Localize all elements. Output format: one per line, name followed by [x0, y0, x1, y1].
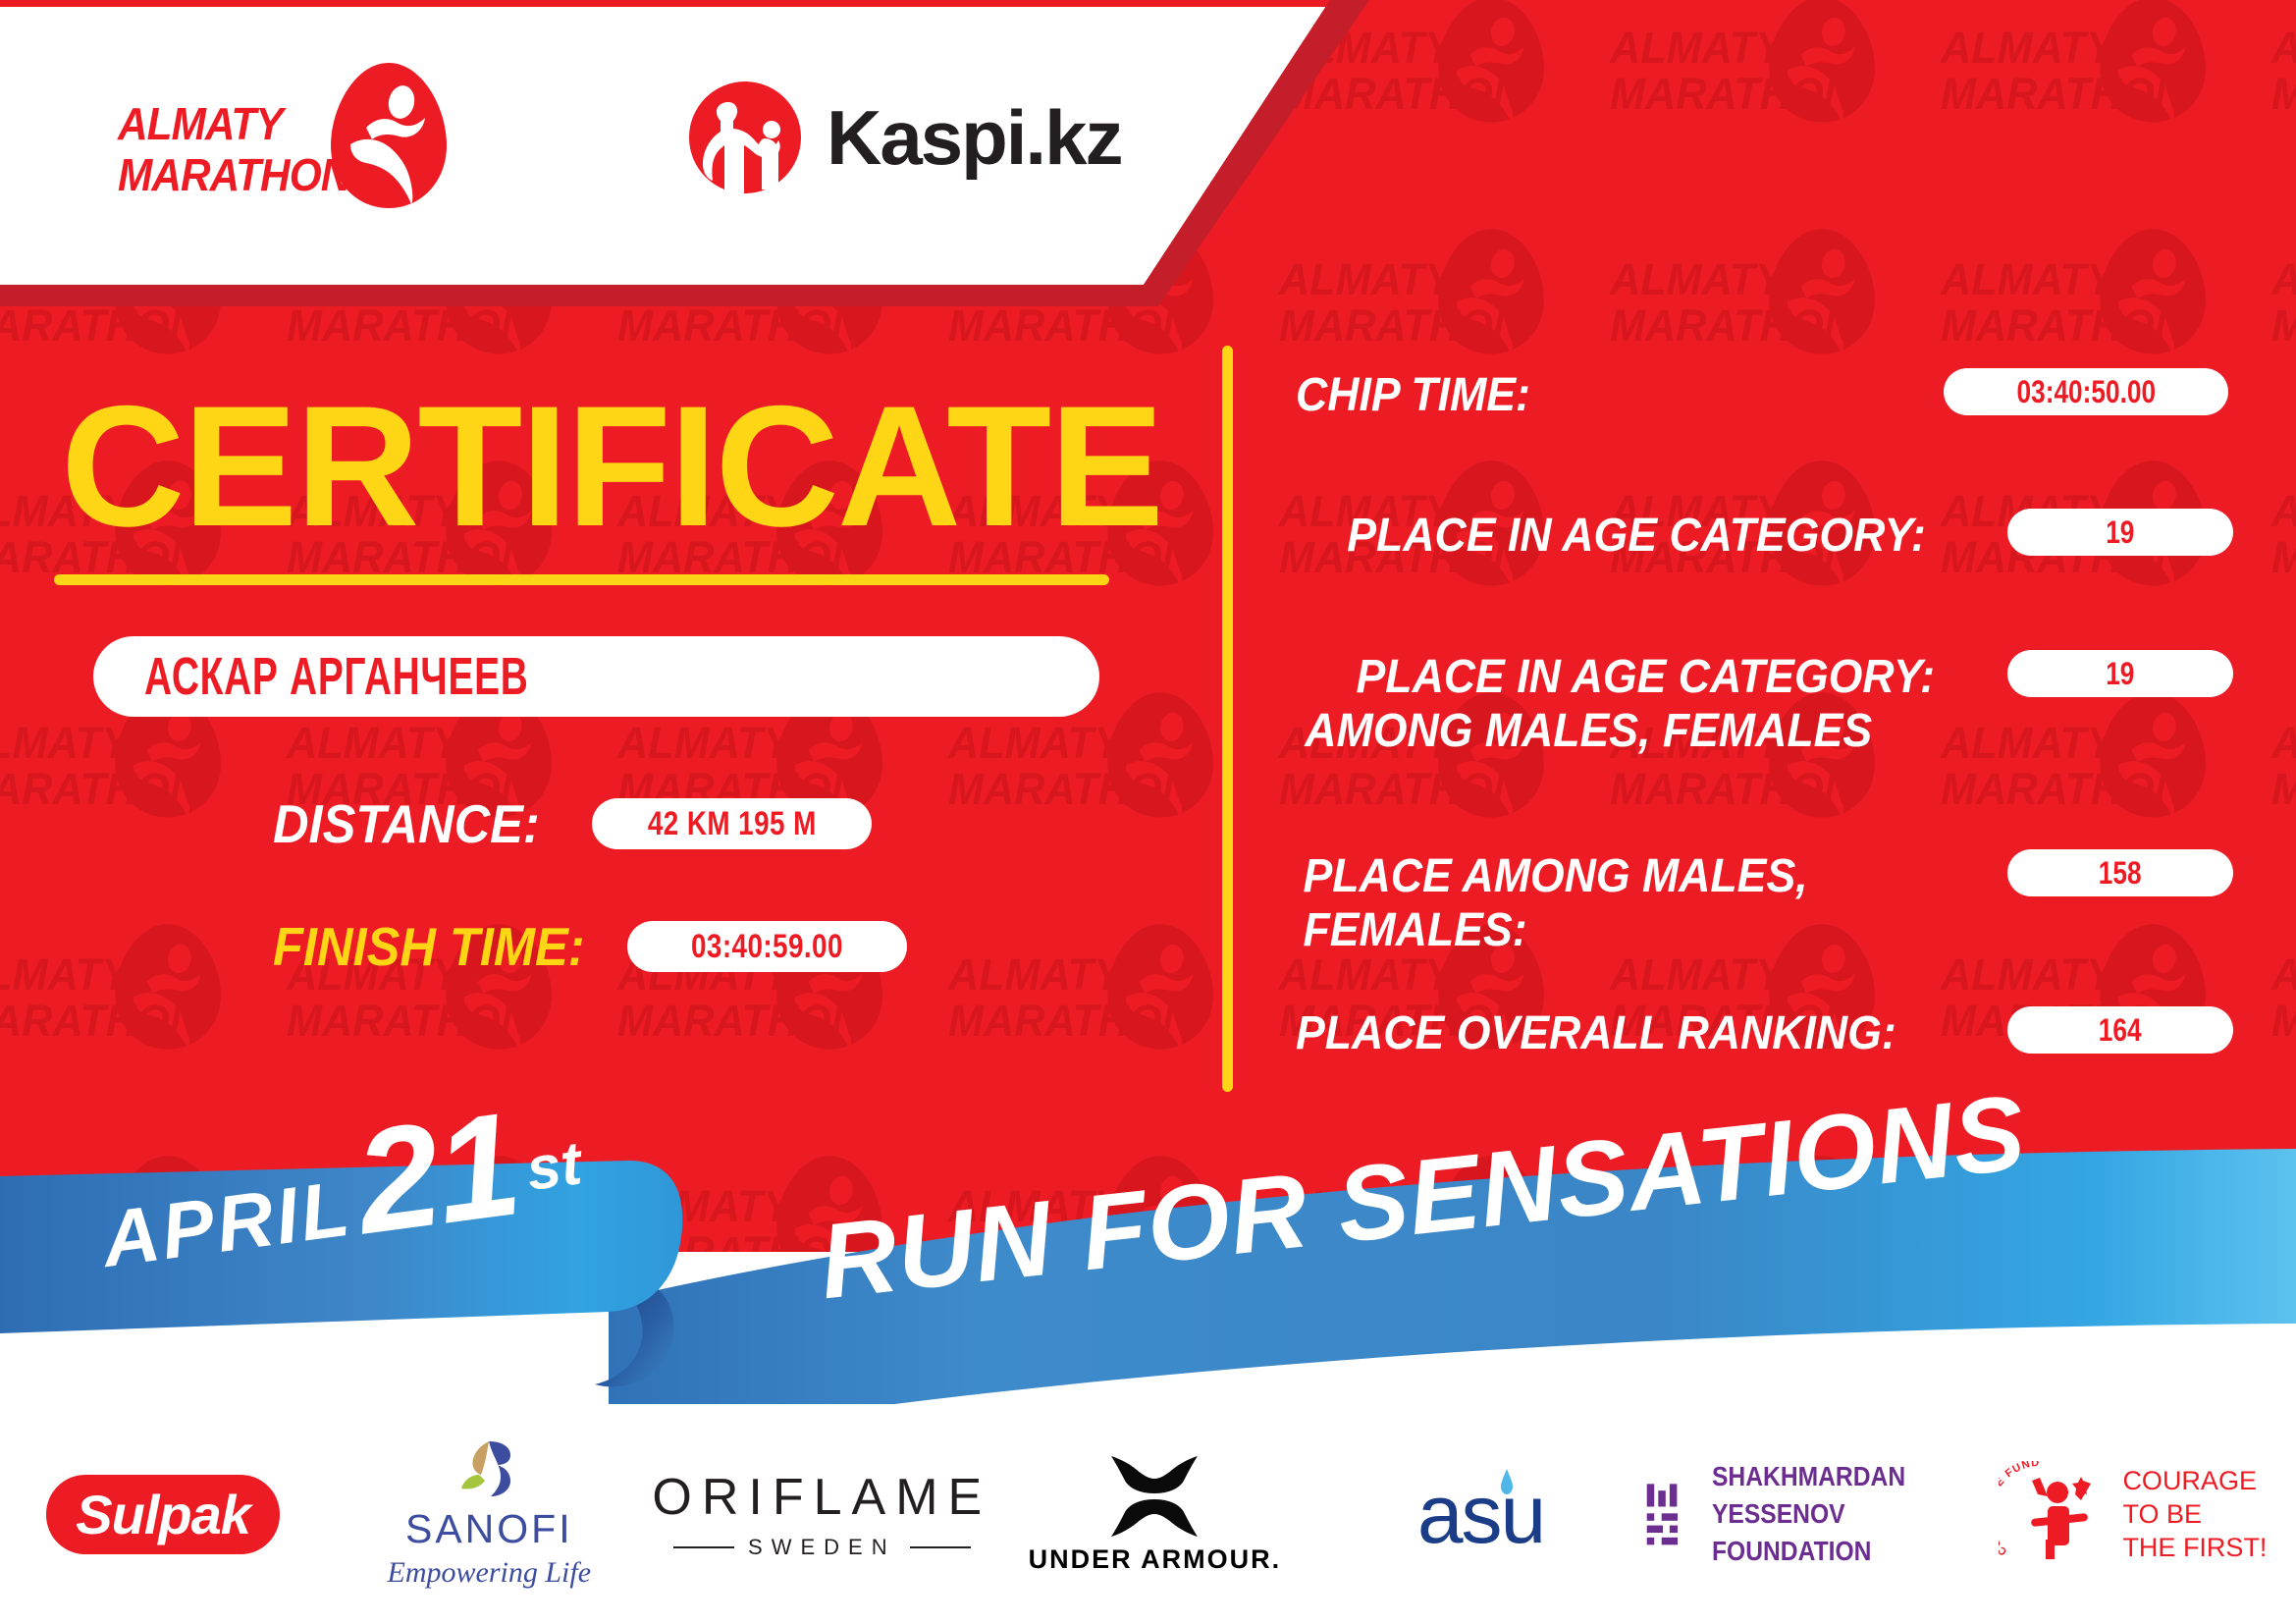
- participant-name: АСКАР АРГАНЧЕЕВ: [144, 650, 529, 703]
- chip-time-value-pill: 03:40:50.00: [1944, 368, 2228, 415]
- asu-droplet-icon: [1500, 1469, 1514, 1494]
- place-age-category-label: PLACE IN AGE CATEGORY:: [1296, 509, 1926, 563]
- svg-text:MARATHON: MARATHON: [1941, 70, 2186, 119]
- place-age-category-value: 19: [2106, 514, 2134, 551]
- runner-teardrop-icon: [329, 61, 449, 210]
- yessenov-line1: SHAKHMARDAN YESSENOV: [1712, 1458, 1939, 1533]
- almaty-marathon-wordmark: ALMATY MARATHON: [118, 98, 361, 200]
- sponsor-oriflame: ORIFLAME SWEDEN: [652, 1435, 991, 1593]
- place-among-mf-value-pill: 158: [2007, 849, 2233, 896]
- finish-time-value: 03:40:59.00: [691, 928, 843, 966]
- sanofi-wordmark: SANOFI: [388, 1506, 592, 1552]
- finish-time-row: FINISH TIME: 03:40:59.00: [273, 918, 907, 975]
- distance-label: DISTANCE:: [273, 795, 540, 852]
- finish-time-label: FINISH TIME:: [273, 918, 585, 975]
- sanofi-mark-icon: [452, 1439, 526, 1500]
- kaspi-logo: Kaspi.kz: [687, 83, 1121, 191]
- place-overall-label: PLACE OVERALL RANKING:: [1296, 1006, 1946, 1060]
- certificate-page: ALMATYMARATHONALMATYMARATHONALMATYMARATH…: [0, 0, 2296, 1624]
- under-armour-logo: UNDER ARMOUR.: [1029, 1454, 1282, 1575]
- sponsor-yessenov-foundation: SHAKHMARDAN YESSENOV FOUNDATION: [1644, 1435, 1970, 1593]
- courage-child-icon: CORPORATE FUND: [1999, 1461, 2109, 1567]
- place-age-category-mf-value: 19: [2106, 656, 2134, 692]
- almaty-marathon-line2: MARATHON: [118, 149, 361, 200]
- chip-time-label: CHIP TIME:: [1296, 368, 1935, 422]
- place-among-mf-value: 158: [2099, 855, 2142, 892]
- participant-name-field: АСКАР АРГАНЧЕЕВ: [93, 636, 1099, 717]
- place-overall-value: 164: [2099, 1012, 2142, 1049]
- finish-time-value-pill: 03:40:59.00: [627, 921, 907, 972]
- yessenov-logo: SHAKHMARDAN YESSENOV FOUNDATION: [1644, 1458, 1970, 1570]
- kaspi-wordmark: Kaspi.kz: [827, 93, 1121, 183]
- yessenov-mark-icon: [1644, 1468, 1691, 1560]
- kaspi-family-icon: [687, 80, 803, 195]
- courage-line3: THE FIRST!: [2122, 1531, 2267, 1564]
- place-among-mf-label: PLACE AMONG MALES, FEMALES:: [1296, 849, 1942, 957]
- sponsor-sulpak: Sulpak: [0, 1435, 326, 1593]
- sponsor-under-armour: UNDER ARMOUR.: [991, 1435, 1317, 1593]
- almaty-marathon-logo: ALMATY MARATHON: [118, 61, 442, 208]
- place-age-category-mf-label: PLACE IN AGE CATEGORY: AMONG MALES, FEMA…: [1296, 650, 1935, 758]
- event-day: 21: [349, 1100, 524, 1245]
- sponsor-sanofi: SANOFI Empowering Life: [326, 1435, 652, 1593]
- oriflame-rule-left: [673, 1546, 734, 1548]
- distance-value-pill: 42 KM 195 M: [592, 798, 872, 849]
- header: ALMATY MARATHON: [0, 0, 1178, 285]
- oriflame-sub: SWEDEN: [652, 1535, 991, 1560]
- sulpak-logo: Sulpak: [46, 1475, 280, 1554]
- place-age-category-mf-value-pill: 19: [2007, 650, 2233, 697]
- certificate-title: CERTIFICATE: [61, 381, 1162, 553]
- svg-text:ALMATY: ALMATY: [2270, 24, 2296, 73]
- svg-text:ALMATY: ALMATY: [1609, 24, 1787, 73]
- place-age-category-mf-label-line2: AMONG MALES, FEMALES: [1305, 704, 1935, 758]
- yessenov-wordmark: SHAKHMARDAN YESSENOV FOUNDATION: [1712, 1458, 1939, 1570]
- place-among-mf-label-line1: PLACE AMONG MALES,: [1303, 849, 1942, 903]
- asu-logo: asu: [1417, 1467, 1544, 1562]
- distance-row: DISTANCE: 42 KM 195 M: [273, 795, 872, 852]
- courage-line2: TO BE: [2122, 1497, 2267, 1531]
- watermark-tile: ALMATYMARATHON: [1595, 0, 1919, 191]
- vertical-yellow-divider: [1222, 346, 1233, 1092]
- sponsor-bar: Sulpak SANOFI Empowering Life ORIFLAME S…: [0, 1404, 2296, 1624]
- asu-wordmark: asu: [1417, 1467, 1544, 1562]
- sponsor-courage-fund: CORPORATE FUND COURAGE TO BE THE FIRST!: [1970, 1435, 2296, 1593]
- watermark-tile: ALMATYMARATHON: [1926, 0, 2250, 191]
- place-age-category-mf-label-line1: PLACE IN AGE CATEGORY:: [1296, 650, 1935, 704]
- place-overall-value-pill: 164: [2007, 1006, 2233, 1054]
- sanofi-logo: SANOFI Empowering Life: [388, 1439, 592, 1590]
- under-armour-wordmark: UNDER ARMOUR.: [1029, 1544, 1282, 1575]
- yessenov-line2: FOUNDATION: [1712, 1533, 1939, 1570]
- oriflame-rule-right: [910, 1546, 971, 1548]
- chip-time-value: 03:40:50.00: [2016, 374, 2156, 410]
- oriflame-wordmark: ORIFLAME: [652, 1468, 991, 1527]
- place-age-category-value-pill: 19: [2007, 509, 2233, 556]
- title-underline: [54, 574, 1109, 585]
- place-among-mf-label-line2: FEMALES:: [1303, 903, 1942, 957]
- oriflame-logo: ORIFLAME SWEDEN: [652, 1468, 991, 1560]
- courage-wordmark: COURAGE TO BE THE FIRST!: [2122, 1464, 2267, 1564]
- svg-text:MARATHON: MARATHON: [1610, 70, 1855, 119]
- almaty-marathon-line1: ALMATY: [118, 98, 361, 149]
- svg-text:MARATHON: MARATHON: [2271, 70, 2296, 119]
- courage-logo: CORPORATE FUND COURAGE TO BE THE FIRST!: [1999, 1461, 2267, 1567]
- courage-line1: COURAGE: [2122, 1464, 2267, 1497]
- under-armour-mark-icon: [1092, 1454, 1217, 1539]
- watermark-tile: ALMATYMARATHON: [2257, 0, 2296, 191]
- oriflame-subtext: SWEDEN: [748, 1535, 896, 1560]
- svg-text:ALMATY: ALMATY: [1940, 24, 2117, 73]
- sanofi-tagline: Empowering Life: [388, 1556, 592, 1590]
- sponsor-asu: asu: [1317, 1435, 1643, 1593]
- svg-text:CORPORATE FUND: CORPORATE FUND: [1999, 1461, 2041, 1557]
- distance-value: 42 KM 195 M: [648, 805, 817, 843]
